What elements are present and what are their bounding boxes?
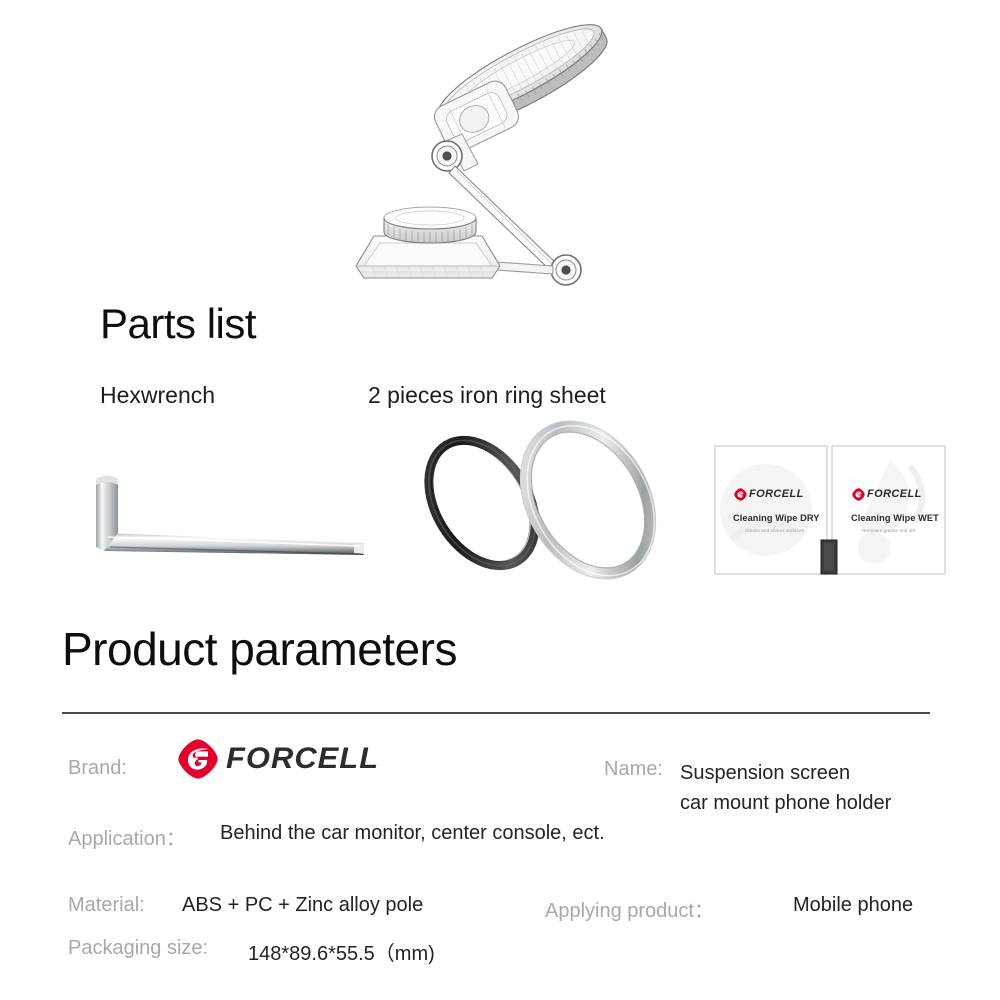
spec-label-packaging-size: Packaging size:	[68, 937, 208, 960]
forcell-mark-icon	[734, 488, 747, 501]
brand-logo-forcell: FORCELL	[176, 738, 375, 780]
packet-wet-subtitle: Removes grease and dirt	[862, 528, 916, 533]
part-label-iron-ring-sheet: 2 pieces iron ring sheet	[368, 382, 606, 409]
iron-ring-icon	[406, 418, 676, 583]
parts-list-heading: Parts list	[100, 300, 256, 348]
spec-value-application: Behind the car monitor, center console, …	[220, 822, 605, 845]
packet-dry-brand-text: FORCELL	[749, 488, 804, 500]
section-divider	[62, 712, 930, 714]
spec-value-name: Suspension screencar mount phone holder	[680, 758, 891, 818]
forcell-mark-icon	[852, 488, 865, 501]
spec-label-material: Material:	[68, 894, 145, 917]
forcell-mark-icon	[176, 738, 220, 780]
spec-value-packaging-size: 148*89.6*55.5（mm)	[248, 937, 435, 966]
packet-wet-title: Cleaning Wipe WET	[851, 513, 939, 523]
hex-wrench-icon	[78, 455, 378, 580]
spec-label-application: Application：	[68, 822, 186, 851]
packet-wet-brand-logo: FORCELL	[852, 487, 922, 501]
spec-value-material: ABS + PC + Zinc alloy pole	[182, 894, 423, 917]
spec-label-name: Name:	[604, 758, 663, 781]
brand-wordmark: FORCELL	[226, 742, 379, 776]
packet-dry-title: Cleaning Wipe DRY	[733, 513, 820, 523]
part-label-hexwrench: Hexwrench	[100, 382, 215, 409]
product-parameters-heading: Product parameters	[62, 622, 457, 676]
spec-value-applying-product: Mobile phone	[793, 894, 913, 917]
packet-wet-brand-text: FORCELL	[867, 488, 922, 500]
spec-label-applying-product: Applying product：	[545, 894, 714, 923]
packet-dry-subtitle: Cleans and shines surfaces	[745, 528, 804, 533]
spec-label-brand: Brand:	[68, 757, 127, 780]
packet-dry-brand-logo: FORCELL	[734, 487, 804, 501]
cleaning-wipes-packets	[714, 444, 946, 576]
product-illustration	[320, 0, 640, 305]
